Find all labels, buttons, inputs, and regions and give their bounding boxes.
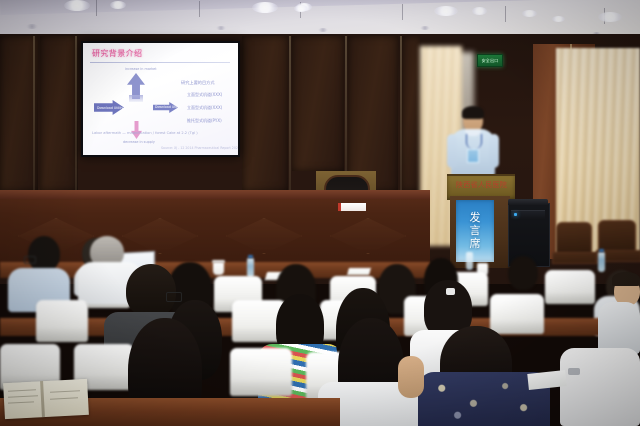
glasses-icon [166, 292, 182, 302]
ceiling-seam [96, 0, 97, 16]
water-bottle [247, 258, 254, 278]
ceiling-downlight [522, 10, 537, 17]
attendee-hair-clip [446, 288, 455, 295]
attendee-head [508, 256, 538, 290]
ceiling-recessed-light [420, 26, 430, 30]
projection-screen-frame: 研究背景介绍 increase in market Download Utili… [81, 41, 240, 157]
ceiling-recessed-light [216, 26, 226, 30]
wall-panel [292, 36, 344, 171]
slide-up-label: increase in market [125, 67, 157, 71]
attendee-hair [612, 272, 640, 286]
exit-sign: 安全出口 [477, 54, 503, 67]
seat-cover [490, 294, 544, 334]
power-led-icon [514, 213, 517, 216]
slide-caption: Labor aftermath — magnification / forest… [92, 131, 198, 135]
diagram-arrow-down [131, 121, 142, 139]
ceiling-downlight [110, 1, 126, 9]
ceiling-seam [505, 6, 506, 22]
slide-list-item: 立面型式机道(XXX) [187, 105, 222, 111]
speaker-lanyard [466, 134, 482, 149]
seat-cover [36, 300, 88, 342]
wall-panel [402, 36, 420, 191]
wristwatch-icon [568, 368, 580, 375]
seat-cover [545, 270, 595, 304]
slide-title: 研究背景介绍 [92, 48, 142, 59]
water-bottle-podium [466, 252, 473, 270]
slide-divider [90, 62, 230, 63]
wall-panel [40, 36, 78, 191]
exit-sign-label: 安全出口 [482, 58, 499, 64]
podium-logo-text: 陕西省人民医院 [456, 180, 507, 190]
wall-panel-seam [345, 36, 347, 171]
speaker-arm-right [489, 134, 499, 168]
paper-cup [213, 262, 224, 275]
side-chair-seat [552, 252, 598, 264]
ceiling-seam [199, 1, 200, 17]
wall-panel [242, 36, 288, 191]
stage-name-card [338, 203, 366, 211]
ceiling-downlight [252, 2, 278, 13]
ceiling-recessed-light [26, 24, 38, 29]
podium-sign-char: 席 [470, 238, 481, 250]
ceiling-downlight [434, 6, 458, 16]
speaker-badge [467, 149, 479, 163]
ceiling-seam [402, 4, 403, 20]
slide-down-label: decrease in supply [123, 140, 155, 144]
ceiling-downlight [472, 7, 487, 15]
podium-sign: 发 言 席 [456, 200, 494, 262]
slide-list-item: 推托型式机道(PYX) [187, 118, 222, 124]
handout-paper [347, 268, 371, 275]
ceiling-downlight [598, 12, 622, 22]
wall-panel [348, 36, 398, 191]
paper-cup-lid [212, 260, 225, 263]
wall-panel-seam [75, 36, 77, 191]
speaker-hair [462, 106, 484, 119]
pa-speaker-top [508, 199, 548, 205]
ceiling-downlight [294, 5, 308, 12]
diagram-arrow-inbound-label: Download Utility [97, 106, 123, 110]
wall-panel-seam [33, 36, 35, 191]
seat-cover [230, 348, 292, 396]
attendee-torso [598, 302, 640, 354]
projection-screen: 研究背景介绍 increase in market Download Utili… [83, 43, 238, 155]
diagram-arrow-up-shadow [129, 95, 143, 102]
water-bottle [598, 252, 605, 272]
podium-sign-char: 言 [470, 225, 481, 237]
ceiling-downlight [64, 0, 90, 11]
wall-panel-seam [289, 36, 291, 191]
attendee-head [126, 264, 176, 318]
slide-credit: Source: XJ - 12 2014 Pharmaceutical Repo… [161, 146, 238, 150]
glasses-icon [24, 256, 36, 264]
ceiling-downlight [552, 16, 565, 22]
conference-hall-photo: 研究背景介绍 increase in market Download Utili… [0, 0, 640, 426]
attendee-arm [398, 356, 424, 398]
speaker-arm-left [447, 134, 457, 168]
water-bottle-cap [599, 249, 604, 252]
ceiling-recessed-light [318, 28, 328, 32]
podium-sign-char: 发 [470, 212, 481, 224]
water-bottle-cap [248, 255, 253, 258]
open-notebook [3, 379, 89, 419]
diagram-arrow-middle-label: Download Utility [155, 105, 181, 109]
slide-list-item: 立面型式机道(XXX) [187, 92, 222, 98]
stage-desk-top [0, 190, 430, 199]
attendee-head [28, 236, 60, 272]
attendee-torso [560, 348, 640, 426]
slide-list-heading: 研究上要的目方式 [181, 80, 215, 86]
